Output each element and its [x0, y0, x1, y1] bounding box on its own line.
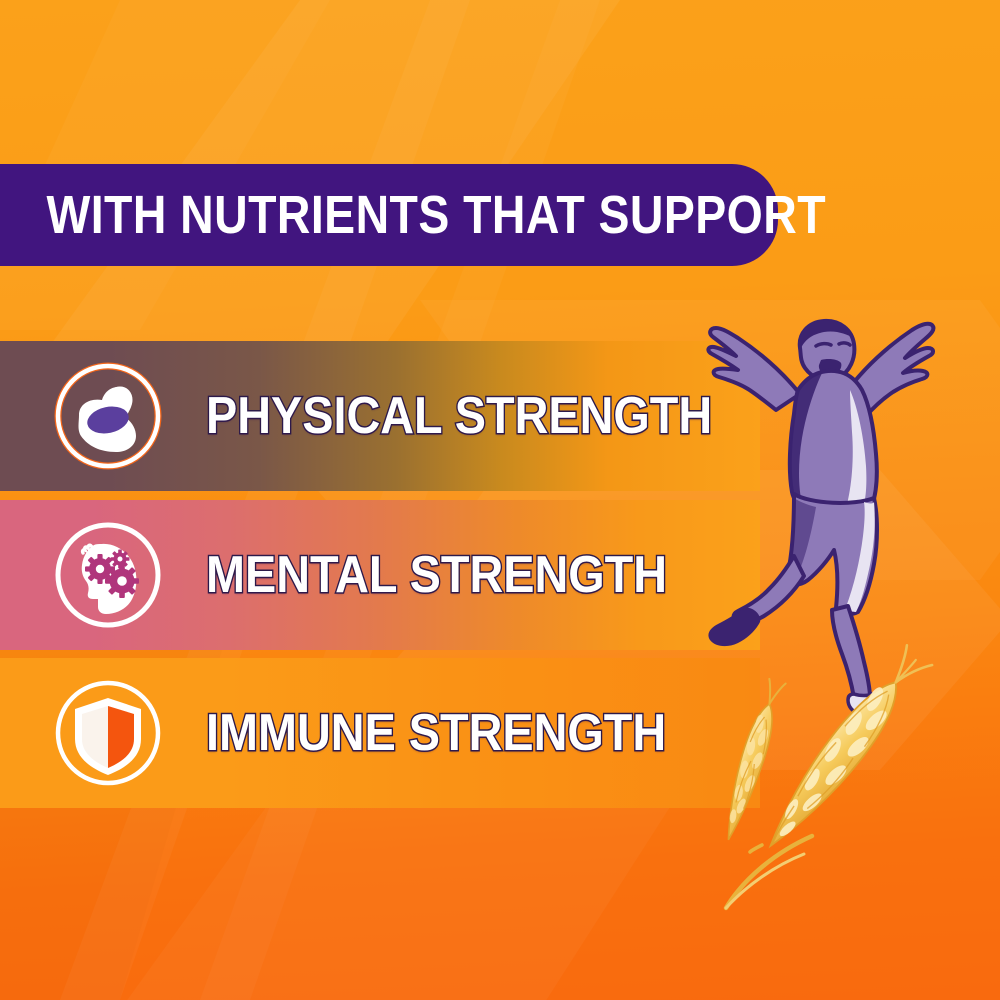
headline-text: WITH NUTRIENTS THAT SUPPORT — [0, 188, 826, 242]
feature-row-physical-strength: PHYSICAL STRENGTH — [0, 341, 760, 491]
wheat-stalks-illustration — [700, 640, 1000, 930]
feature-row-immune-strength: IMMUNE STRENGTH — [0, 658, 760, 808]
feature-label-mental-strength: MENTAL STRENGTH — [206, 549, 667, 601]
headline-banner: WITH NUTRIENTS THAT SUPPORT — [0, 164, 778, 266]
feature-label-immune-strength: IMMUNE STRENGTH — [206, 707, 666, 759]
feature-row-mental-strength: MENTAL STRENGTH — [0, 500, 760, 650]
flexed-bicep-icon — [52, 360, 164, 472]
poster-canvas: WITH NUTRIENTS THAT SUPPORT PHYSICAL STR… — [0, 0, 1000, 1000]
feature-label-physical-strength: PHYSICAL STRENGTH — [206, 390, 712, 442]
head-with-gears-icon — [52, 519, 164, 631]
shield-icon — [52, 677, 164, 789]
